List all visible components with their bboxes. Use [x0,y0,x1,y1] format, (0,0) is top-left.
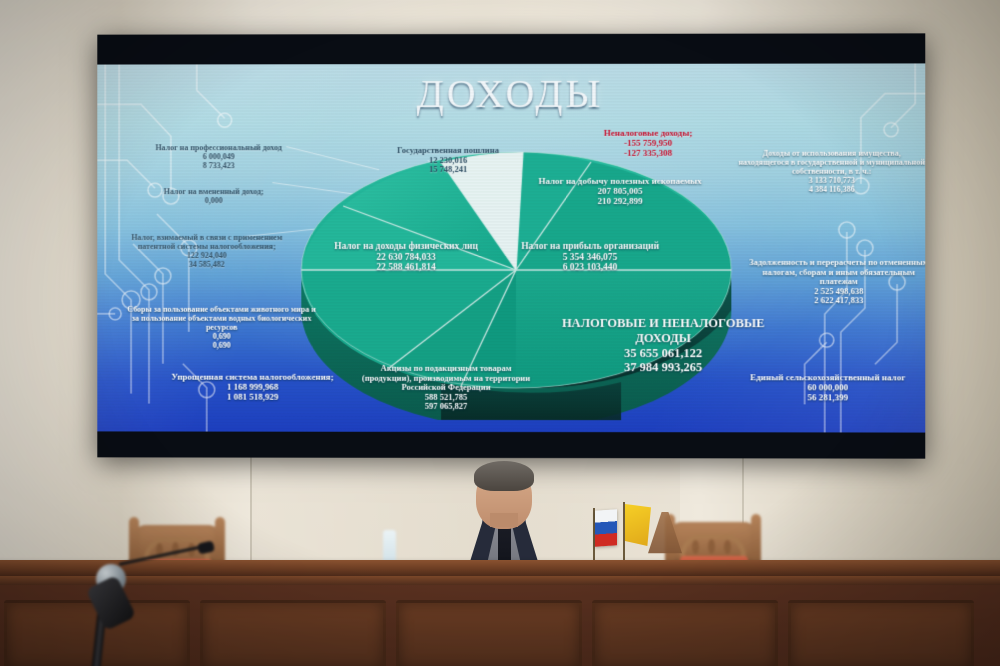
label-ndfl: Налог на доходы физических лиц 22 630 78… [320,242,492,274]
label-prof-income-value-2: 8 733,423 [129,162,308,171]
label-total-value-1: 35 655 061,122 [548,346,779,361]
label-patent-tax-value-2: 34 585,482 [117,261,296,270]
label-mineral-tax: Налог на добычу полезных ископаемых 207 … [520,176,720,206]
label-profit-tax-name: Налог на прибыль организаций [510,242,670,253]
flag-cloth-russian [595,509,617,547]
label-ndfl-name: Налог на доходы физических лиц [320,242,492,253]
flag-pole-regional [623,502,625,560]
label-profit-tax-value-1: 5 354 346,075 [510,253,670,264]
label-patent-tax: Налог, взимаемый в связи с применением п… [117,234,296,270]
speaker-hair [474,461,534,491]
label-agri-tax-name: Единый сельскохозяйственный налог [732,372,923,382]
desk-front-panel-5 [788,600,974,666]
label-agri-tax: Единый сельскохозяйственный налог 60 000… [732,372,923,403]
slide-title: ДОХОДЫ [97,69,925,117]
label-ndfl-value-2: 22 588 461,814 [320,263,492,274]
label-arrears-name: Задолженность и перерасчеты по отмененны… [748,258,925,287]
label-state-duty: Государственная пошлина 12 230,016 15 74… [358,146,538,175]
label-wildlife-fees-value-2: 0,690 [127,342,316,351]
label-mineral-tax-value-2: 210 292,899 [520,196,720,206]
water-bottle [383,530,396,564]
label-excise: Акцизы по подакцизным товарам (продукции… [358,364,534,412]
label-agri-tax-value-1: 60 000,000 [732,382,923,392]
desk-front-panel-3 [396,600,582,666]
conference-hall-photo: ДОХОДЫ [0,0,1000,666]
regional-yellow-flag [623,502,653,560]
label-excise-name: Акцизы по подакцизным товарам (продукции… [358,364,534,393]
label-profit-tax-value-2: 6 023 103,440 [510,263,670,274]
label-non-tax-income-value-2: -127 335,308 [548,148,748,158]
label-usn: Упрощенная система налогообложения; 1 16… [163,372,342,402]
label-arrears: Задолженность и перерасчеты по отмененны… [748,258,925,306]
label-mineral-tax-name: Налог на добычу полезных ископаемых [520,176,720,186]
flag-cloth-regional [625,504,651,546]
led-video-wall[interactable]: ДОХОДЫ [97,33,925,458]
mic-gooseneck [119,545,204,566]
desk-front-panel-4 [592,600,778,666]
label-state-duty-value-2: 15 748,241 [358,165,538,175]
speaker-neck [490,513,518,527]
label-non-tax-income: Неналоговые доходы; -155 759,950 -127 33… [548,128,748,158]
label-prof-income: Налог на профессиональный доход 6 000,04… [129,144,308,171]
label-wildlife-fees: Сборы за пользование объектами животного… [127,306,316,351]
label-non-tax-income-name: Неналоговые доходы; [548,128,748,138]
led-screen-display-area: ДОХОДЫ [97,63,925,432]
label-ndfl-value-1: 22 630 784,033 [320,253,492,264]
label-property-income-value-2: 4 384 116,386 [738,186,925,195]
mic-body [86,575,137,631]
label-total-tax-nontax: НАЛОГОВЫЕ И НЕНАЛОГОВЫЕ ДОХОДЫ 35 655 06… [548,316,779,375]
label-total-name: НАЛОГОВЫЕ И НЕНАЛОГОВЫЕ ДОХОДЫ [548,316,779,346]
label-usn-value-2: 1 081 518,929 [163,392,342,402]
mic-capsule-tip [197,540,215,554]
label-wildlife-fees-name: Сборы за пользование объектами животного… [127,306,316,333]
label-imputed-income: Налог на вмененный доход; 0,000 [119,188,308,206]
label-patent-tax-name: Налог, взимаемый в связи с применением п… [117,234,296,252]
label-arrears-value-2: 2 622 417,833 [748,296,925,306]
label-usn-value-1: 1 168 999,968 [163,382,342,392]
microphone [70,540,230,666]
label-excise-value-2: 597 065,827 [358,402,534,412]
label-property-income-name: Доходы от использования имущества, наход… [738,150,925,177]
label-imputed-income-value-1: 0,000 [119,197,308,206]
label-profit-tax: Налог на прибыль организаций 5 354 346,0… [510,242,670,274]
label-agri-tax-value-2: 56 281,399 [732,392,923,402]
label-non-tax-income-value-1: -155 759,950 [548,138,748,148]
russian-tricolor-flag [593,508,619,560]
label-property-income: Доходы от использования имущества, наход… [738,150,925,195]
label-usn-name: Упрощенная система налогообложения; [163,372,342,382]
label-mineral-tax-value-1: 207 805,005 [520,186,720,196]
